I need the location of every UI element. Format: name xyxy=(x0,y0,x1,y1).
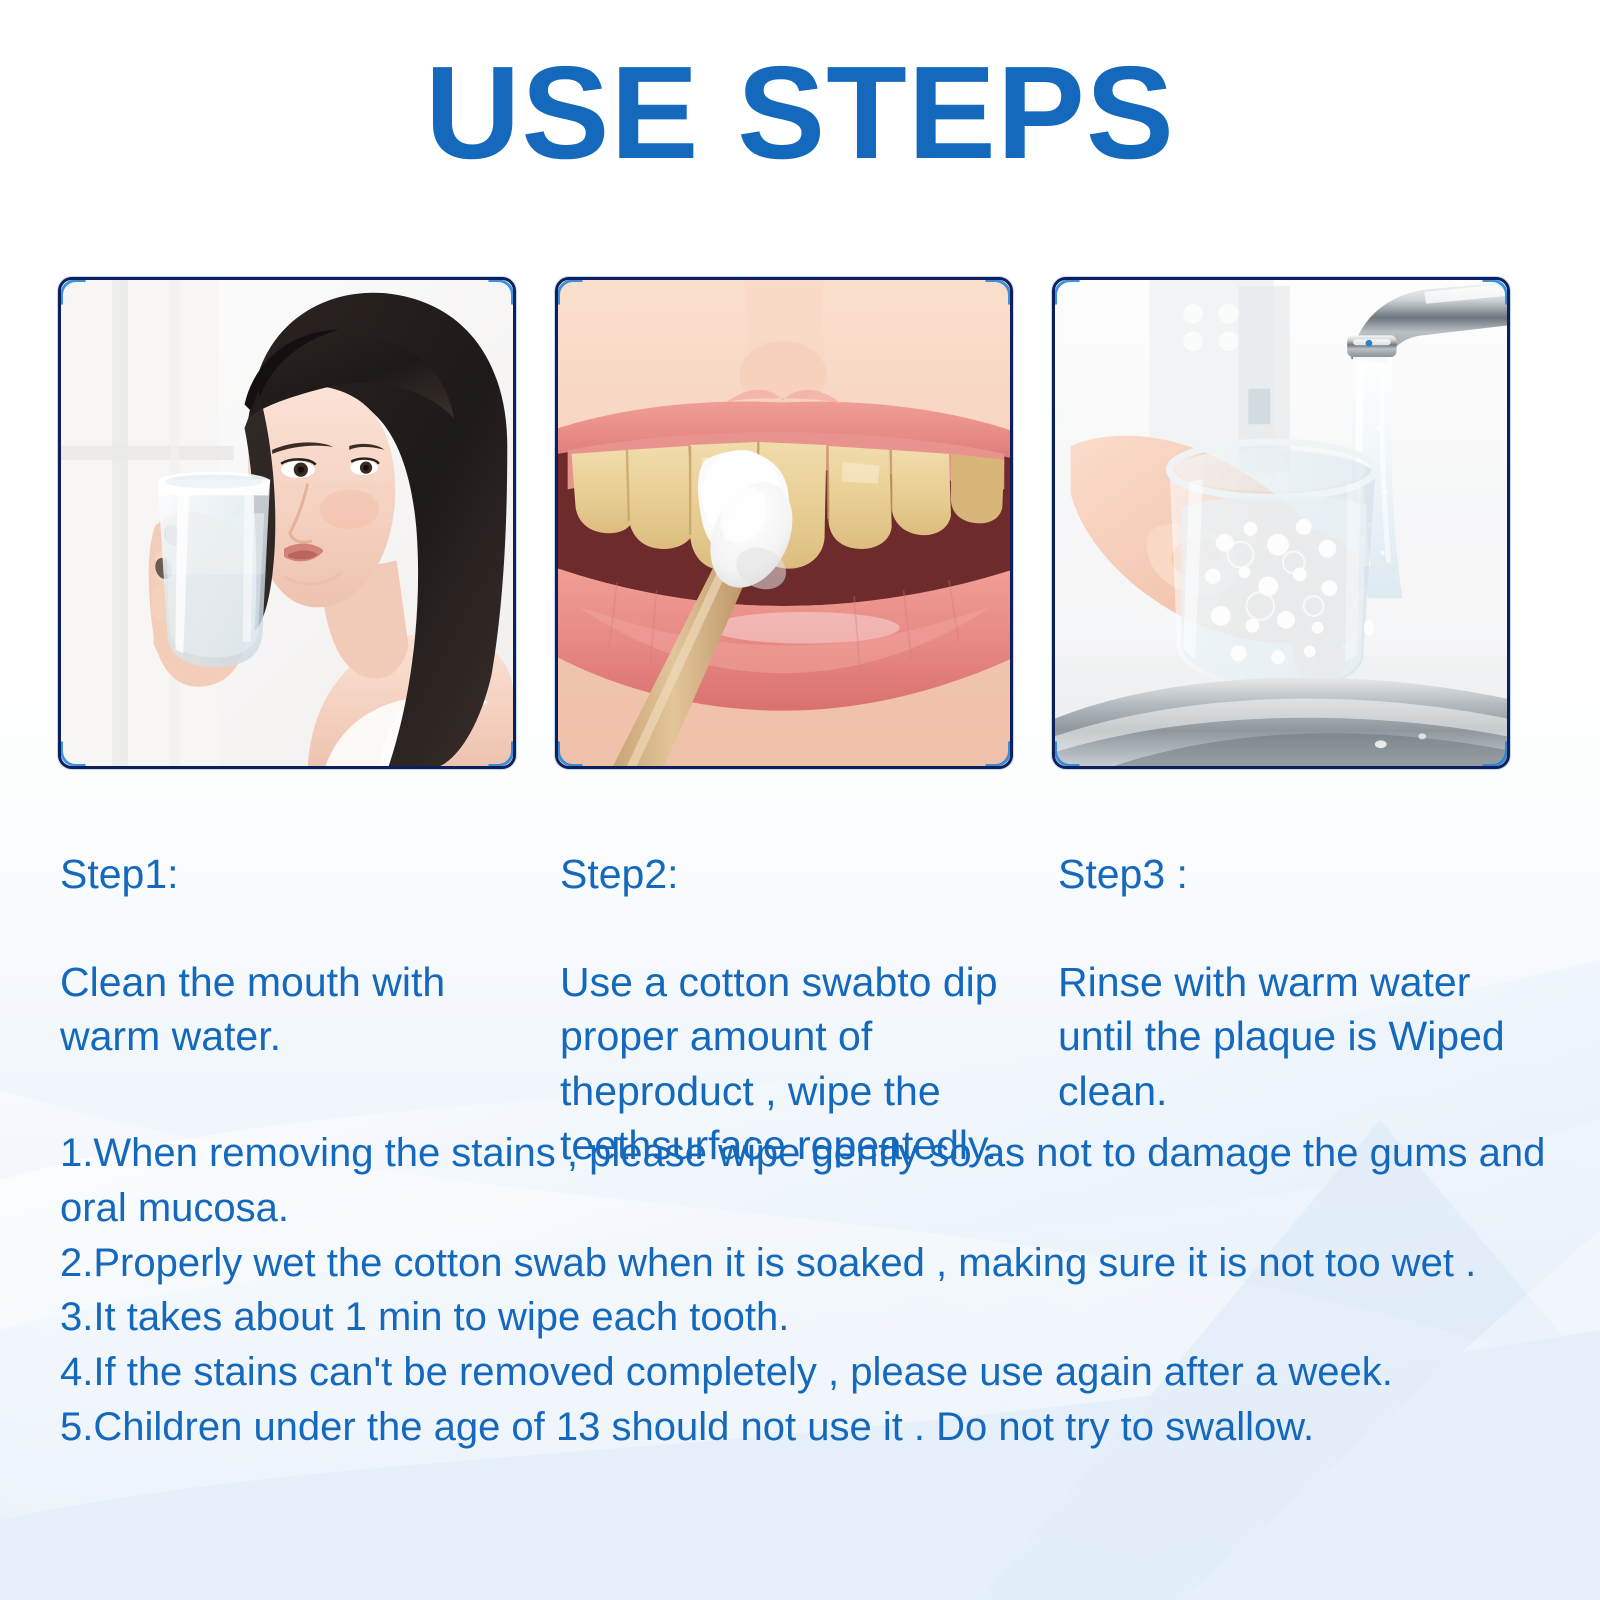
usage-notes-list: 1.When removing the stains , please wipe… xyxy=(60,1126,1565,1455)
glass-under-faucet-photo xyxy=(1055,280,1507,766)
step-1-text: Clean the mouth with warm water. xyxy=(60,955,530,1063)
woman-drinking-water-photo xyxy=(61,280,513,766)
step-1-caption: Step1: Clean the mouth with warm water. xyxy=(60,793,530,1118)
cotton-swab-on-teeth-photo xyxy=(558,280,1010,766)
step-3-label: Step3 : xyxy=(1058,847,1538,901)
step-1-label: Step1: xyxy=(60,847,530,901)
step-3-caption: Step3 : Rinse with warm water until the … xyxy=(1058,793,1538,1172)
step-3-text: Rinse with warm water until the plaque i… xyxy=(1058,955,1538,1117)
step-1-photo-frame xyxy=(58,277,516,769)
usage-note-2: 2.Properly wet the cotton swab when it i… xyxy=(60,1236,1565,1291)
usage-note-5: 5.Children under the age of 13 should no… xyxy=(60,1400,1565,1455)
step-3-photo-frame xyxy=(1052,277,1510,769)
steps-photo-row xyxy=(58,277,1510,769)
usage-note-4: 4.If the stains can't be removed complet… xyxy=(60,1345,1565,1400)
step-2-label: Step2: xyxy=(560,847,1030,901)
usage-note-1: 1.When removing the stains , please wipe… xyxy=(60,1126,1565,1236)
step-2-photo-frame xyxy=(555,277,1013,769)
step-captions: Step1: Clean the mouth with warm water. … xyxy=(0,793,1600,1093)
page-title: USE STEPS xyxy=(0,42,1600,185)
usage-note-3: 3.It takes about 1 min to wipe each toot… xyxy=(60,1290,1565,1345)
